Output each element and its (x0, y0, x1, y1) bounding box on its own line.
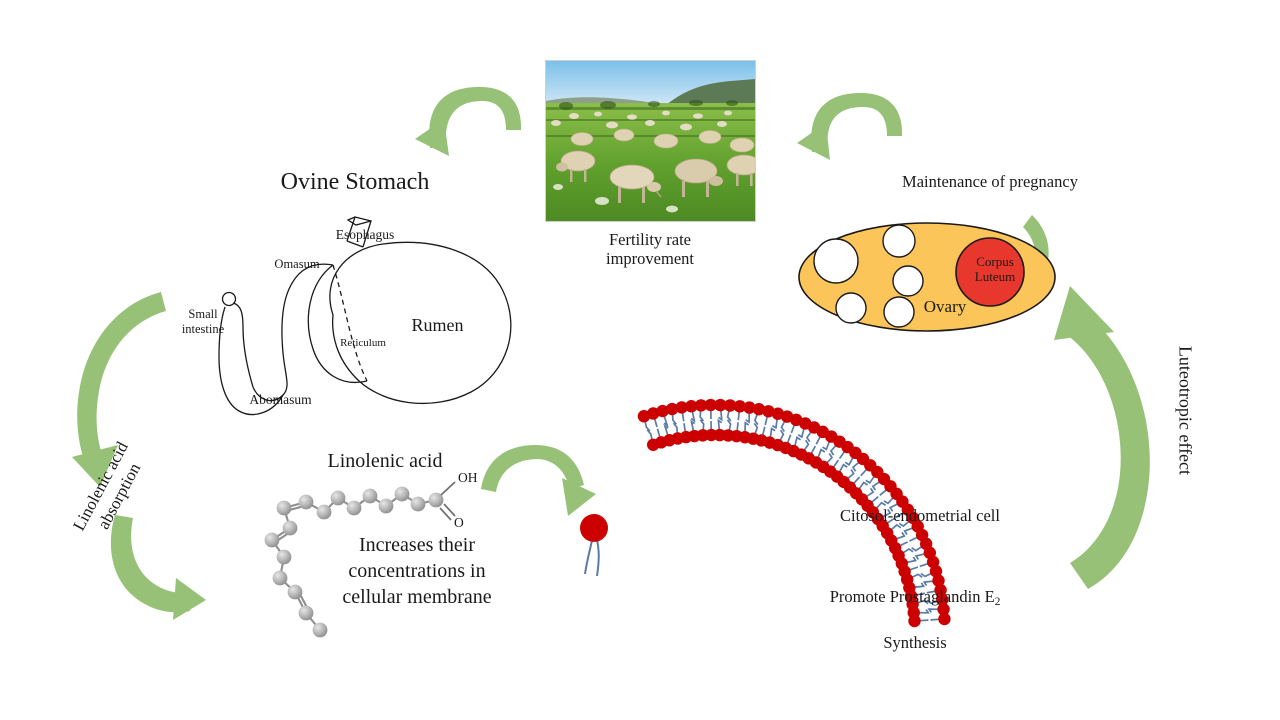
reticulum-label: Reticulum (323, 337, 403, 350)
molecule-effect-text: Increases their concentrations in cellul… (306, 532, 528, 610)
citosol-endometrial-cell-label: Citosol-endometrial cell (800, 506, 1040, 525)
carbon-atom (299, 495, 314, 510)
prostaglandin-line-1: Promote Prostaglandin E2 (830, 587, 1001, 606)
follicle (883, 225, 915, 257)
phospholipid-tail (596, 536, 599, 576)
corpus-luteum-label: Corpus Luteum (950, 255, 1040, 285)
carbon-atom (317, 505, 332, 520)
carbon-atom (277, 501, 292, 516)
omasum-label: Omasum (252, 257, 342, 272)
carbon-atom (363, 489, 378, 504)
carbon-atom (331, 491, 346, 506)
carbon-atom (313, 623, 328, 638)
arrow-molecule-to-lipid (481, 445, 596, 516)
luteotropic-effect-label: Luteotropic effect (1175, 321, 1196, 501)
carboxyl-oh-label: OH (458, 470, 478, 485)
carbon-atom (395, 487, 410, 502)
prostaglandin-synthesis-label: Promote Prostaglandin E2 Synthesis (790, 565, 1040, 653)
carbon-atom (277, 550, 292, 565)
carbon-atom (265, 533, 280, 548)
follicle (814, 239, 858, 283)
abomasum-label: Abomasum (228, 392, 333, 408)
follicle (836, 293, 866, 323)
carbon-atom (347, 501, 362, 516)
diagram-canvas: Ovine Stomach Esophagus Omasum Rumen Ret… (0, 0, 1280, 720)
sheep-pasture-photo (545, 60, 756, 222)
carboxyl-o-label: O (454, 515, 464, 530)
maintenance-of-pregnancy-label: Maintenance of pregnancy (860, 172, 1120, 191)
page-title-ovine-stomach: Ovine Stomach (250, 168, 460, 196)
carbon-atom (288, 585, 303, 600)
ovary-label: Ovary (905, 297, 985, 317)
carbon-atom (283, 521, 298, 536)
arrow-absorption-lower (111, 515, 206, 620)
phospholipid-head (580, 514, 608, 542)
phospholipid-molecule (565, 508, 625, 598)
photo-caption: Fertility rate improvement (565, 230, 735, 269)
arrow-photo-to-pregnancy (797, 93, 902, 160)
photo-content (546, 61, 755, 221)
carbon-atom (411, 497, 426, 512)
rumen-label: Rumen (390, 315, 485, 336)
arrow-stomach-to-photo (415, 87, 521, 156)
prostaglandin-line-2: Synthesis (883, 633, 946, 652)
small-intestine-label: Small intestine (172, 307, 234, 337)
carbon-atom (379, 499, 394, 514)
esophagus-label: Esophagus (310, 227, 420, 243)
carbon-atom (273, 571, 288, 586)
follicle (893, 266, 923, 296)
